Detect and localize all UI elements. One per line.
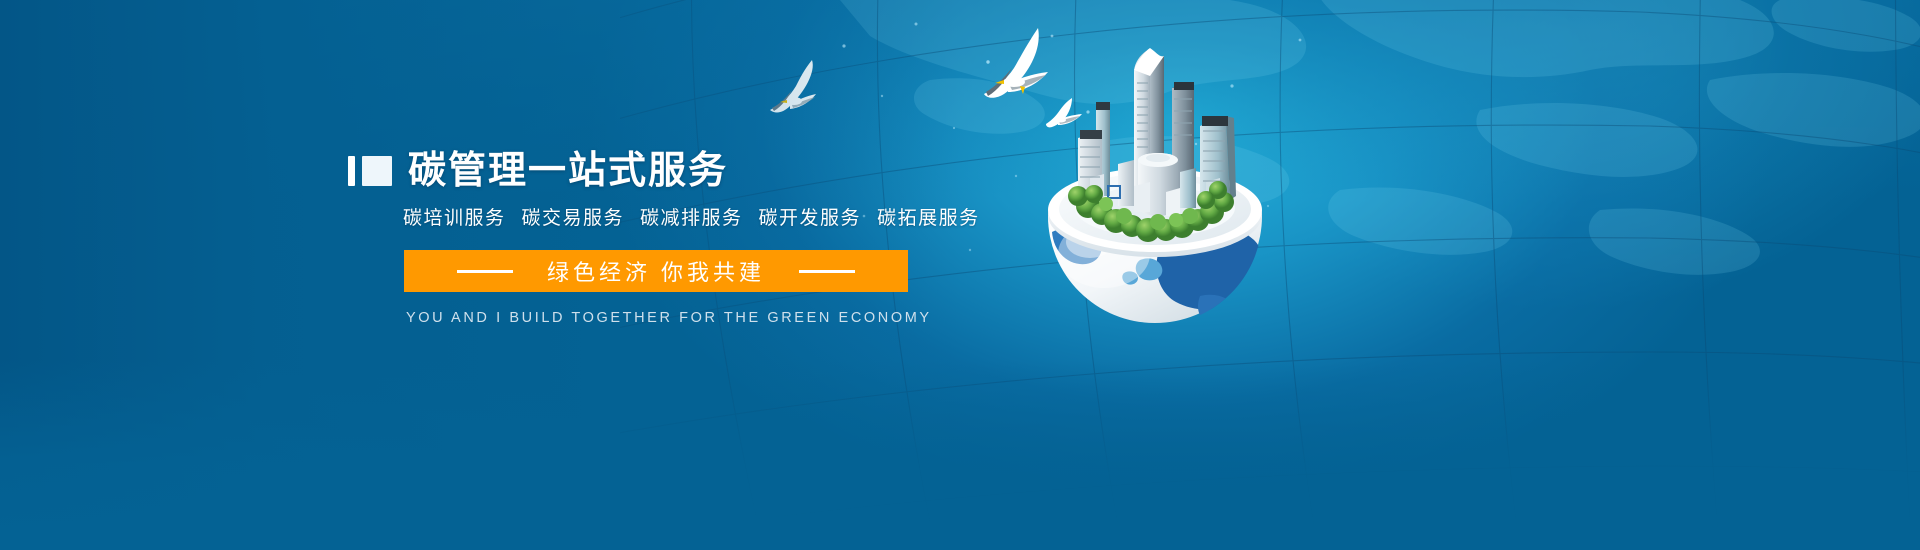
square-icon: [362, 156, 392, 186]
service-item: 碳交易服务: [522, 203, 625, 230]
hero-banner: 碳管理一站式服务 碳培训服务 碳交易服务 碳减排服务 碳开发服务 碳拓展服务 绿…: [0, 0, 1920, 550]
vertical-bar-icon: [348, 156, 355, 186]
service-item: 碳开发服务: [759, 203, 862, 230]
banner-content: 碳管理一站式服务 碳培训服务 碳交易服务 碳减排服务 碳开发服务 碳拓展服务 绿…: [348, 148, 1028, 326]
service-item: 碳拓展服务: [877, 203, 980, 230]
slogan-text: 绿色经济 你我共建: [547, 255, 765, 287]
right-dash-icon: [799, 270, 855, 273]
page-title: 碳管理一站式服务: [408, 149, 728, 193]
service-item: 碳培训服务: [403, 203, 506, 230]
slogan-bar: 绿色经济 你我共建: [404, 250, 908, 292]
title-row: 碳管理一站式服务: [348, 148, 1028, 194]
english-tagline: YOU AND I BUILD TOGETHER FOR THE GREEN E…: [406, 310, 1028, 326]
service-list: 碳培训服务 碳交易服务 碳减排服务 碳开发服务 碳拓展服务: [403, 203, 1028, 230]
left-dash-icon: [457, 270, 513, 273]
service-item: 碳减排服务: [640, 203, 743, 230]
background-bottom-fade: [0, 360, 1920, 550]
logo-mark: [348, 156, 392, 186]
